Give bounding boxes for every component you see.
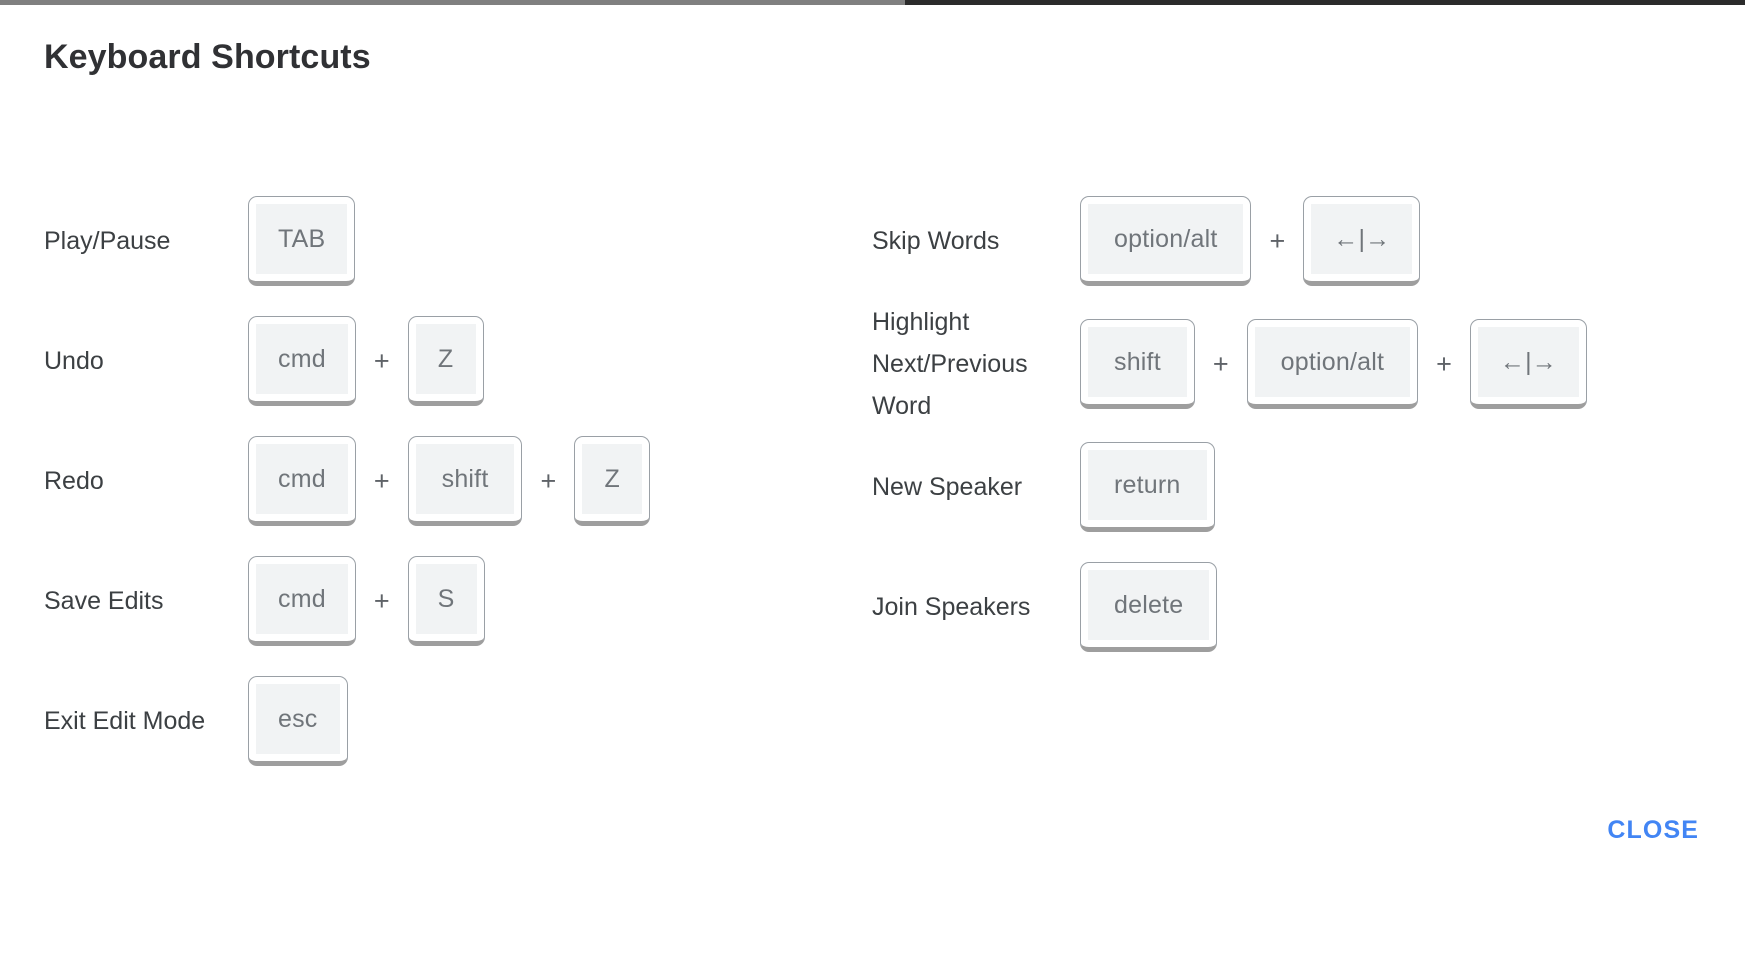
keycap: TAB	[248, 196, 355, 286]
shortcut-row: Undocmd+Z	[44, 301, 828, 421]
key-combination: cmd+shift+Z	[248, 436, 650, 526]
keycap: shift	[1080, 319, 1195, 409]
shortcut-label: Join Speakers	[872, 586, 1080, 628]
keycap: ←|→	[1303, 196, 1420, 286]
shortcut-label: Exit Edit Mode	[44, 700, 248, 742]
keycap-label: cmd	[256, 324, 348, 394]
shortcuts-grid: Play/PauseTABUndocmd+ZRedocmd+shift+ZSav…	[0, 181, 1745, 781]
plus-separator-icon: +	[356, 586, 408, 617]
shortcut-row: Join Speakersdelete	[872, 547, 1745, 667]
shortcuts-column-right: Skip Wordsoption/alt+←|→Highlight Next/P…	[828, 181, 1745, 667]
plus-separator-icon: +	[356, 466, 408, 497]
shortcut-label: New Speaker	[872, 466, 1080, 508]
keycap-label: ←|→	[1478, 327, 1579, 397]
keycap: cmd	[248, 556, 356, 646]
keycap: delete	[1080, 562, 1217, 652]
shortcuts-column-left: Play/PauseTABUndocmd+ZRedocmd+shift+ZSav…	[0, 181, 828, 781]
key-combination: TAB	[248, 196, 355, 286]
keycap-label: cmd	[256, 564, 348, 634]
keycap-label: delete	[1088, 570, 1209, 640]
keycap: ←|→	[1470, 319, 1587, 409]
keycap-label: Z	[582, 444, 642, 514]
shortcut-label: Save Edits	[44, 580, 248, 622]
keycap-label: Z	[416, 324, 476, 394]
key-combination: shift+option/alt+←|→	[1080, 319, 1587, 409]
shortcut-label: Redo	[44, 460, 248, 502]
keycap: Z	[408, 316, 484, 406]
keycap-label: S	[416, 564, 477, 634]
keycap-label: option/alt	[1255, 327, 1410, 397]
keycap: cmd	[248, 316, 356, 406]
keycap-label: shift	[1088, 327, 1187, 397]
keyboard-shortcuts-dialog: Keyboard Shortcuts Play/PauseTABUndocmd+…	[0, 5, 1745, 973]
keycap: shift	[408, 436, 523, 526]
keycap-label: ←|→	[1311, 204, 1412, 274]
keycap: option/alt	[1080, 196, 1251, 286]
keycap: Z	[574, 436, 650, 526]
shortcut-row: Highlight Next/Previous Wordshift+option…	[872, 301, 1745, 427]
keycap-label: shift	[416, 444, 515, 514]
shortcut-label: Play/Pause	[44, 220, 248, 262]
keycap: option/alt	[1247, 319, 1418, 409]
key-combination: cmd+Z	[248, 316, 484, 406]
keycap: cmd	[248, 436, 356, 526]
plus-separator-icon: +	[1418, 349, 1470, 380]
keycap-label: option/alt	[1088, 204, 1243, 274]
key-combination: option/alt+←|→	[1080, 196, 1420, 286]
shortcut-row: Save Editscmd+S	[44, 541, 828, 661]
shortcut-label: Skip Words	[872, 220, 1080, 262]
shortcut-row: Exit Edit Modeesc	[44, 661, 828, 781]
keycap: S	[408, 556, 485, 646]
plus-separator-icon: +	[1251, 226, 1303, 257]
plus-separator-icon: +	[1195, 349, 1247, 380]
shortcut-row: Play/PauseTAB	[44, 181, 828, 301]
keycap-label: cmd	[256, 444, 348, 514]
key-combination: esc	[248, 676, 348, 766]
shortcut-label: Highlight Next/Previous Word	[872, 301, 1080, 427]
keycap: return	[1080, 442, 1215, 532]
plus-separator-icon: +	[356, 346, 408, 377]
key-combination: delete	[1080, 562, 1217, 652]
shortcut-row: New Speakerreturn	[872, 427, 1745, 547]
key-combination: cmd+S	[248, 556, 485, 646]
keycap-label: return	[1088, 450, 1207, 520]
shortcut-row: Redocmd+shift+Z	[44, 421, 828, 541]
plus-separator-icon: +	[522, 466, 574, 497]
key-combination: return	[1080, 442, 1215, 532]
shortcut-row: Skip Wordsoption/alt+←|→	[872, 181, 1745, 301]
keycap-label: esc	[256, 684, 340, 754]
close-button[interactable]: CLOSE	[1591, 806, 1715, 855]
shortcut-label: Undo	[44, 340, 248, 382]
keycap: esc	[248, 676, 348, 766]
keycap-label: TAB	[256, 204, 347, 274]
page-title: Keyboard Shortcuts	[44, 38, 371, 77]
